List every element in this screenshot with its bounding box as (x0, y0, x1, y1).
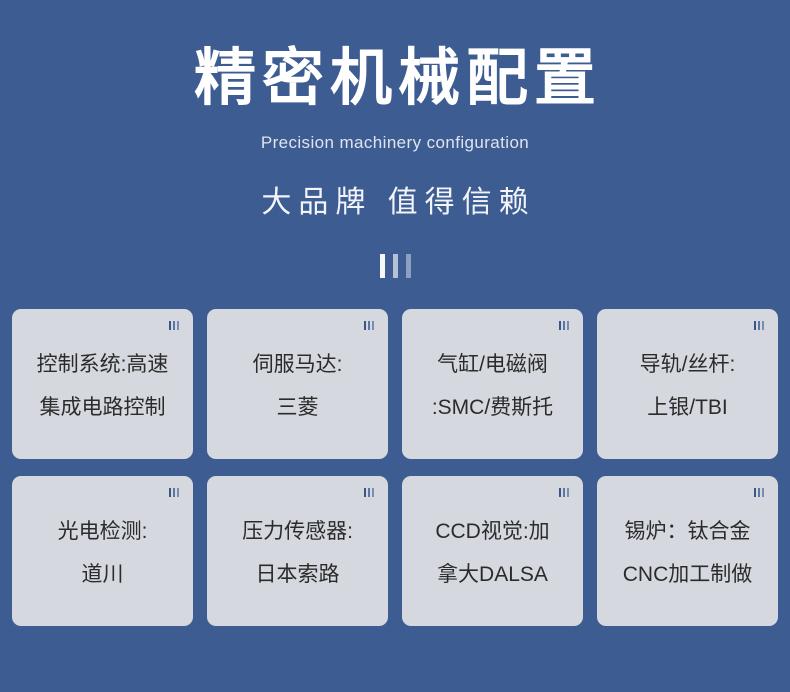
spec-card-line2: 道川 (82, 553, 124, 596)
spec-card: 锡炉：钛合金 CNC加工制做 (597, 476, 778, 626)
spec-card-line1: 气缸/电磁阀 (437, 343, 548, 386)
spec-card-line2: :SMC/费斯托 (432, 386, 553, 429)
spec-card-line2: 拿大DALSA (437, 553, 548, 596)
promo-banner: 精密机械配置 Precision machinery configuration… (0, 0, 790, 692)
spec-card: CCD视觉:加 拿大DALSA (402, 476, 583, 626)
spec-card-line1: 锡炉：钛合金 (625, 510, 751, 553)
banner-header: 精密机械配置 Precision machinery configuration… (0, 0, 790, 278)
spec-card-line1: 伺服马达: (253, 343, 343, 386)
spec-card-line2: CNC加工制做 (623, 553, 753, 596)
three-bars-mark-icon (364, 321, 374, 330)
three-bars-mark-icon (559, 321, 569, 330)
spec-card-line2: 集成电路控制 (40, 386, 166, 429)
spec-card-line2: 三菱 (277, 386, 319, 429)
spec-card-line2: 上银/TBI (647, 386, 728, 429)
page-title: 精密机械配置 (188, 46, 602, 113)
divider-bar-2 (393, 254, 398, 278)
divider-bar-3 (406, 254, 411, 278)
spec-card: 导轨/丝杆: 上银/TBI (597, 309, 778, 459)
subtitle-english: Precision machinery configuration (261, 133, 529, 153)
spec-card-line1: 光电检测: (58, 510, 148, 553)
spec-card: 光电检测: 道川 (12, 476, 193, 626)
three-bars-mark-icon (169, 321, 179, 330)
spec-card-line1: 控制系统:高速 (37, 343, 169, 386)
spec-card-line2: 日本索路 (256, 553, 340, 596)
spec-card: 控制系统:高速 集成电路控制 (12, 309, 193, 459)
subtitle-chinese: 大品牌 值得信赖 (254, 177, 535, 221)
three-vertical-bars-icon (380, 254, 411, 278)
spec-card: 压力传感器: 日本索路 (207, 476, 388, 626)
three-bars-mark-icon (559, 488, 569, 497)
spec-card-line1: 压力传感器: (242, 510, 353, 553)
spec-card: 气缸/电磁阀 :SMC/费斯托 (402, 309, 583, 459)
spec-card: 伺服马达: 三菱 (207, 309, 388, 459)
three-bars-mark-icon (364, 488, 374, 497)
divider-bar-1 (380, 254, 385, 278)
spec-card-line1: CCD视觉:加 (435, 510, 549, 553)
three-bars-mark-icon (169, 488, 179, 497)
spec-card-line1: 导轨/丝杆: (640, 343, 736, 386)
three-bars-mark-icon (754, 321, 764, 330)
spec-card-grid: 控制系统:高速 集成电路控制 伺服马达: 三菱 气缸/电磁阀 :SMC/费斯托 … (12, 309, 778, 626)
three-bars-mark-icon (754, 488, 764, 497)
